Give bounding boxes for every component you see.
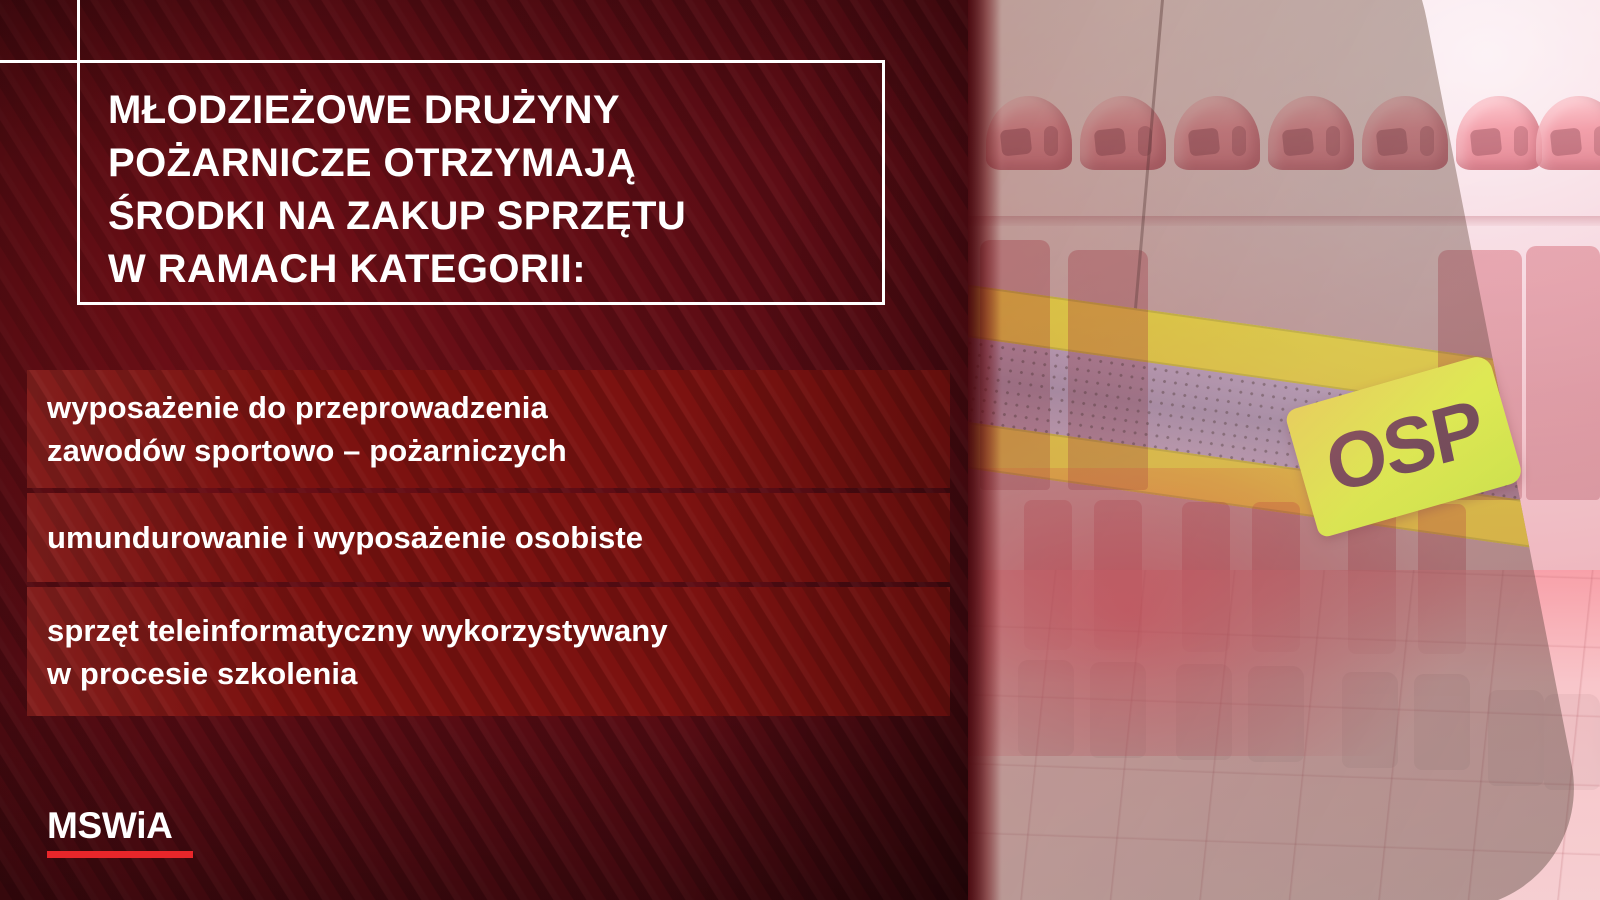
category-1-line-1: wyposażenie do przeprowadzenia — [47, 386, 567, 429]
mswia-logo: MSWiA — [47, 806, 193, 858]
headline-line-3: ŚRODKI NA ZAKUP SPRZĘTU — [108, 190, 878, 243]
mswia-logo-text: MSWiA — [47, 806, 193, 846]
headline-line-1: MŁODZIEŻOWE DRUŻYNY — [108, 84, 878, 137]
poster: MŁODZIEŻOWE DRUŻYNY POŻARNICZE OTRZYMAJĄ… — [0, 0, 1600, 900]
category-3-line-1: sprzęt teleinformatyczny wykorzystywany — [47, 609, 668, 652]
category-list: wyposażenie do przeprowadzenia zawodów s… — [27, 370, 950, 721]
photo-panel: OSP — [968, 0, 1600, 900]
list-item: sprzęt teleinformatyczny wykorzystywany … — [27, 587, 950, 716]
list-item: wyposażenie do przeprowadzenia zawodów s… — [27, 370, 950, 488]
category-text-3: sprzęt teleinformatyczny wykorzystywany … — [27, 609, 684, 695]
category-text-1: wyposażenie do przeprowadzenia zawodów s… — [27, 386, 583, 472]
category-text-2: umundurowanie i wyposażenie osobiste — [27, 516, 659, 559]
page-title: MŁODZIEŻOWE DRUŻYNY POŻARNICZE OTRZYMAJĄ… — [108, 84, 878, 296]
category-2-line-1: umundurowanie i wyposażenie osobiste — [47, 516, 643, 559]
headline-line-2: POŻARNICZE OTRZYMAJĄ — [108, 137, 878, 190]
category-3-line-2: w procesie szkolenia — [47, 652, 668, 695]
list-item: umundurowanie i wyposażenie osobiste — [27, 493, 950, 582]
mswia-logo-bar — [47, 851, 193, 858]
headline-line-4: W RAMACH KATEGORII: — [108, 243, 878, 296]
photo-edge-shadow — [968, 0, 1600, 900]
corner-rule-vertical — [77, 0, 80, 61]
corner-rule-horizontal — [0, 60, 77, 63]
category-1-line-2: zawodów sportowo – pożarniczych — [47, 429, 567, 472]
